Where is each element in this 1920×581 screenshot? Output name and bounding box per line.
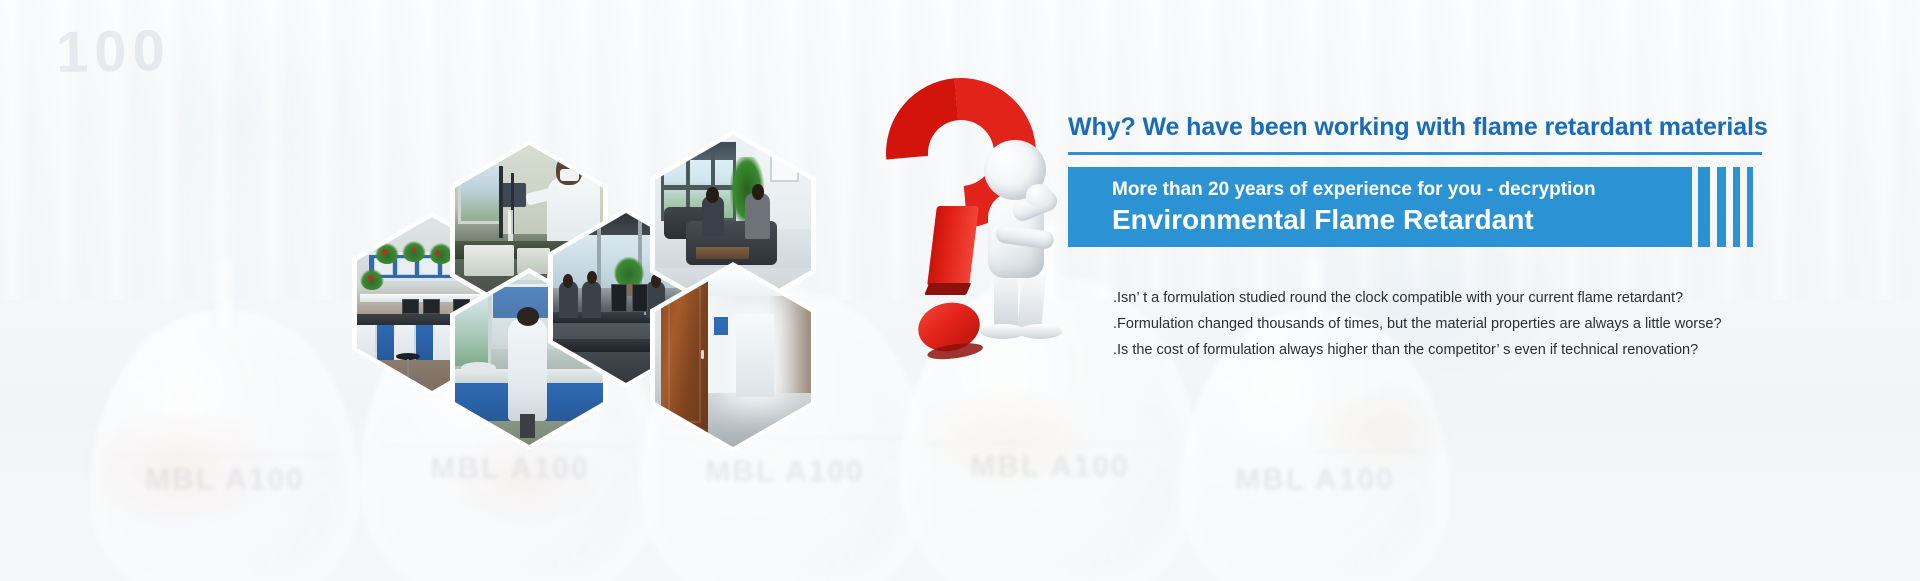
callout-subtitle: More than 20 years of experience for you… — [1112, 177, 1596, 202]
callout-title: Environmental Flame Retardant — [1112, 203, 1596, 237]
headline-divider — [1068, 152, 1762, 155]
bullet-item: .Is the cost of formulation always highe… — [1113, 337, 1808, 363]
hero-banner: MBL A100 MBL A100 MBL A100 MBL A100 MBL … — [0, 0, 1920, 581]
bullet-item: .Formulation changed thousands of times,… — [1113, 311, 1808, 337]
callout-bar: More than 20 years of experience for you… — [1068, 167, 1762, 247]
question-bullet-list: .Isn’ t a formulation studied round the … — [1068, 285, 1808, 363]
hexagon-photo-collage — [0, 0, 900, 581]
thinking-person-figure-icon — [970, 140, 1080, 340]
callout-bar-stripes — [1692, 167, 1762, 247]
banner-headline: Why? We have been working with flame ret… — [1068, 112, 1808, 142]
bullet-item: .Isn’ t a formulation studied round the … — [1113, 285, 1808, 311]
stripe-3 — [1733, 167, 1740, 247]
banner-text-block: Why? We have been working with flame ret… — [1068, 112, 1808, 363]
stripe-2 — [1717, 167, 1726, 247]
stripe-1 — [1698, 167, 1710, 247]
stripe-4 — [1747, 167, 1753, 247]
callout-text: More than 20 years of experience for you… — [1068, 177, 1596, 237]
